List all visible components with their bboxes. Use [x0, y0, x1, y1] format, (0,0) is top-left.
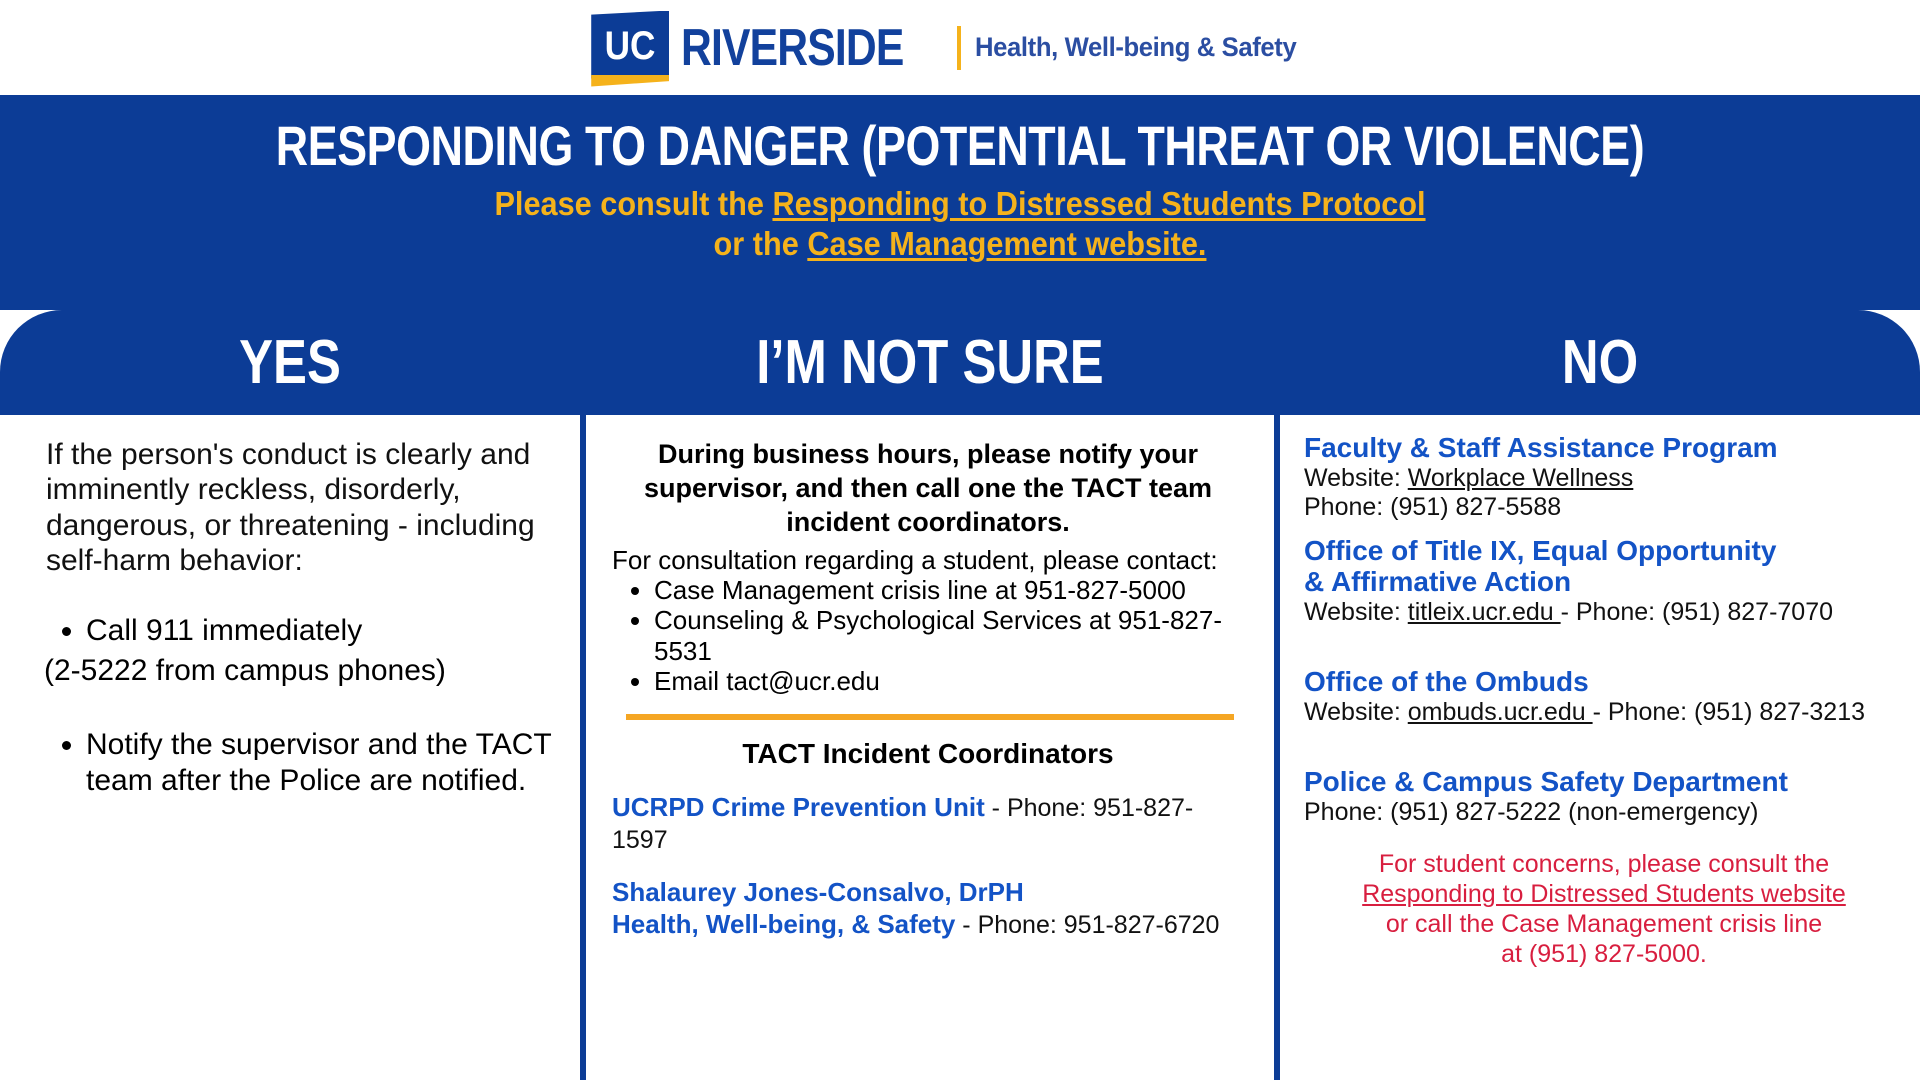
tact-coordinator-entry-1: UCRPD Crime Prevention Unit - Phone: 951…	[612, 792, 1244, 855]
brand-header: UC RIVERSIDE Health, Well-being & Safety	[0, 0, 1920, 95]
column-no: Faculty & Staff Assistance Program Websi…	[1280, 415, 1914, 1080]
student-concerns-line-3: or call the Case Management crisis line	[1304, 909, 1904, 939]
website-label: Website:	[1304, 698, 1408, 726]
student-concerns-line-1: For student concerns, please consult the	[1304, 849, 1904, 879]
ucr-logo: UC RIVERSIDE Health, Well-being & Safety	[591, 11, 1313, 85]
tact-coordinator-entry-2: Shalaurey Jones-Consalvo, DrPH Health, W…	[612, 877, 1244, 940]
link-workplace-wellness[interactable]: Workplace Wellness	[1408, 464, 1634, 492]
no-entry-ombuds: Office of the Ombuds Website: ombuds.ucr…	[1304, 667, 1904, 727]
no-entry-title-line2: & Affirmative Action	[1304, 567, 1904, 598]
not-sure-headline: During business hours, please notify you…	[612, 437, 1244, 539]
link-responding-distressed-students-website[interactable]: Responding to Distressed Students websit…	[1362, 880, 1846, 908]
no-entry-phone: Phone: (951) 827-5222 (non-emergency)	[1304, 798, 1904, 827]
column-yes: If the person's conduct is clearly and i…	[0, 415, 580, 1080]
page-title: RESPONDING TO DANGER (POTENTIAL THREAT O…	[192, 117, 1728, 174]
no-entry-phone-inline: - Phone: (951) 827-3213	[1593, 698, 1865, 726]
banner-subtitle: Please consult the Responding to Distres…	[67, 184, 1853, 265]
no-entry-police: Police & Campus Safety Department Phone:…	[1304, 767, 1904, 827]
column-header-yes: YES	[52, 310, 528, 415]
wordmark-riverside: RIVERSIDE	[681, 22, 903, 74]
student-concerns-note: For student concerns, please consult the…	[1304, 849, 1904, 969]
uc-monogram-text: UC	[596, 13, 665, 81]
link-ombuds-ucr-edu[interactable]: ombuds.ucr.edu	[1408, 698, 1593, 726]
spacer	[1304, 641, 1904, 667]
yes-campus-phone-note: (2-5222 from campus phones)	[44, 653, 554, 689]
list-item: Call 911 immediately	[86, 613, 554, 649]
tact-coordinators-title: TACT Incident Coordinators	[612, 738, 1244, 770]
no-entry-title: Office of the Ombuds	[1304, 667, 1904, 698]
no-entry-website: Website: titleix.ucr.edu - Phone: (951) …	[1304, 598, 1904, 627]
no-entry-phone: Phone: (951) 827-5588	[1304, 493, 1904, 522]
no-entry-faculty-staff: Faculty & Staff Assistance Program Websi…	[1304, 433, 1904, 522]
no-entry-title: Faculty & Staff Assistance Program	[1304, 433, 1904, 464]
no-entry-website: Website: ombuds.ucr.edu - Phone: (951) 8…	[1304, 698, 1904, 727]
column-header-not-sure: I’M NOT SURE	[643, 310, 1217, 415]
link-case-management-website[interactable]: Case Management website.	[807, 225, 1206, 262]
no-entry-phone-inline: - Phone: (951) 827-7070	[1561, 598, 1833, 626]
list-item: Case Management crisis line at 951-827-5…	[654, 575, 1244, 605]
no-entry-title-ix: Office of Title IX, Equal Opportunity & …	[1304, 536, 1904, 627]
not-sure-subhead: For consultation regarding a student, pl…	[612, 545, 1244, 575]
list-item: Email tact@ucr.edu	[654, 666, 1244, 696]
columns-container: If the person's conduct is clearly and i…	[0, 415, 1920, 1080]
list-item: Counseling & Psychological Services at 9…	[654, 605, 1244, 665]
brand-tagline: Health, Well-being & Safety	[975, 32, 1296, 63]
banner-subtitle-prefix-1: Please consult the	[494, 185, 772, 222]
tact-coordinator-dept: Health, Well-being, & Safety	[612, 909, 955, 939]
website-label: Website:	[1304, 464, 1408, 492]
title-banner: RESPONDING TO DANGER (POTENTIAL THREAT O…	[0, 95, 1920, 310]
link-distressed-students-protocol[interactable]: Responding to Distressed Students Protoc…	[772, 185, 1425, 222]
no-entry-website: Website: Workplace Wellness	[1304, 464, 1904, 493]
orange-divider-rule	[626, 714, 1234, 720]
tact-coordinator-name: UCRPD Crime Prevention Unit	[612, 792, 985, 822]
spacer	[1304, 741, 1904, 767]
column-not-sure: During business hours, please notify you…	[580, 415, 1280, 1080]
tact-coordinator-name: Shalaurey Jones-Consalvo, DrPH	[612, 877, 1244, 909]
list-item: Notify the supervisor and the TACT team …	[86, 727, 554, 799]
banner-subtitle-line1: Please consult the Responding to Distres…	[67, 184, 1853, 224]
column-header-no: NO	[1338, 310, 1863, 415]
tact-coordinator-phone: - Phone: 951-827-6720	[955, 911, 1219, 939]
website-label: Website:	[1304, 598, 1408, 626]
no-entry-title: Office of Title IX, Equal Opportunity	[1304, 536, 1904, 567]
not-sure-contact-list: Case Management crisis line at 951-827-5…	[612, 575, 1244, 696]
no-entry-title: Police & Campus Safety Department	[1304, 767, 1904, 798]
uc-shield-icon: UC	[591, 11, 669, 85]
yes-intro-text: If the person's conduct is clearly and i…	[46, 437, 554, 579]
gold-divider-rule	[957, 26, 961, 70]
link-titleix-ucr-edu[interactable]: titleix.ucr.edu	[1408, 598, 1561, 626]
column-header-band: YES I’M NOT SURE NO	[0, 310, 1920, 415]
banner-subtitle-prefix-2: or the	[714, 225, 808, 262]
spacer	[46, 689, 554, 727]
banner-subtitle-line2: or the Case Management website.	[67, 224, 1853, 264]
yes-bullet-list-2: Notify the supervisor and the TACT team …	[46, 727, 554, 799]
yes-bullet-list-1: Call 911 immediately	[46, 613, 554, 649]
student-concerns-line-4: at (951) 827-5000.	[1304, 939, 1904, 969]
